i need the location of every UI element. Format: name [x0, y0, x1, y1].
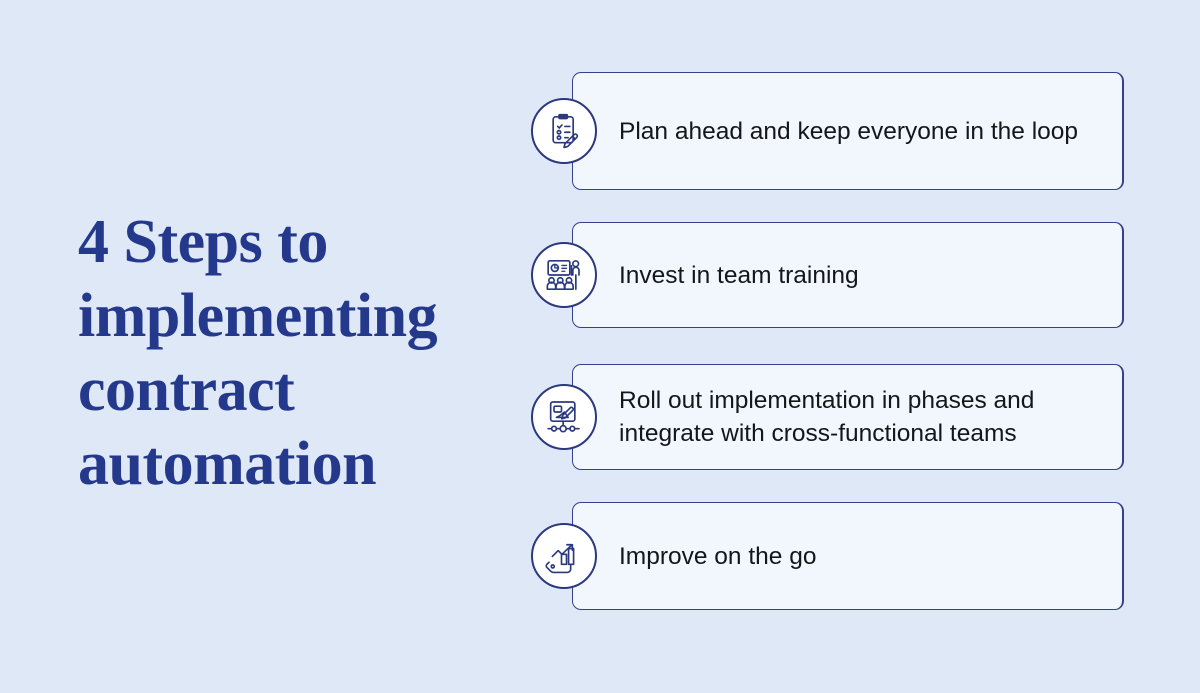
list-item: Roll out implementation in phases and in… — [530, 364, 1140, 470]
title-block: 4 Steps to implementing contract automat… — [78, 205, 508, 501]
step-icon-badge — [531, 384, 597, 450]
clipboard-checklist-pencil-icon — [544, 111, 584, 151]
step-label: Plan ahead and keep everyone in the loop — [619, 115, 1118, 148]
step-label: Improve on the go — [619, 540, 856, 573]
list-item: Improve on the go — [530, 502, 1140, 610]
steps-list: Plan ahead and keep everyone in the loop — [530, 60, 1140, 610]
step-label: Invest in team training — [619, 259, 899, 292]
page-title: 4 Steps to implementing contract automat… — [78, 205, 508, 501]
step-icon-badge — [531, 523, 597, 589]
document-edit-workflow-icon — [544, 397, 584, 437]
training-presentation-icon — [544, 255, 584, 295]
list-item: Invest in team training — [530, 222, 1140, 328]
step-icon-badge — [531, 242, 597, 308]
list-item: Plan ahead and keep everyone in the loop — [530, 72, 1140, 190]
hand-growth-chart-icon — [544, 536, 584, 576]
step-icon-badge — [531, 98, 597, 164]
infographic-canvas: 4 Steps to implementing contract automat… — [0, 0, 1200, 693]
step-label: Roll out implementation in phases and in… — [619, 384, 1129, 450]
